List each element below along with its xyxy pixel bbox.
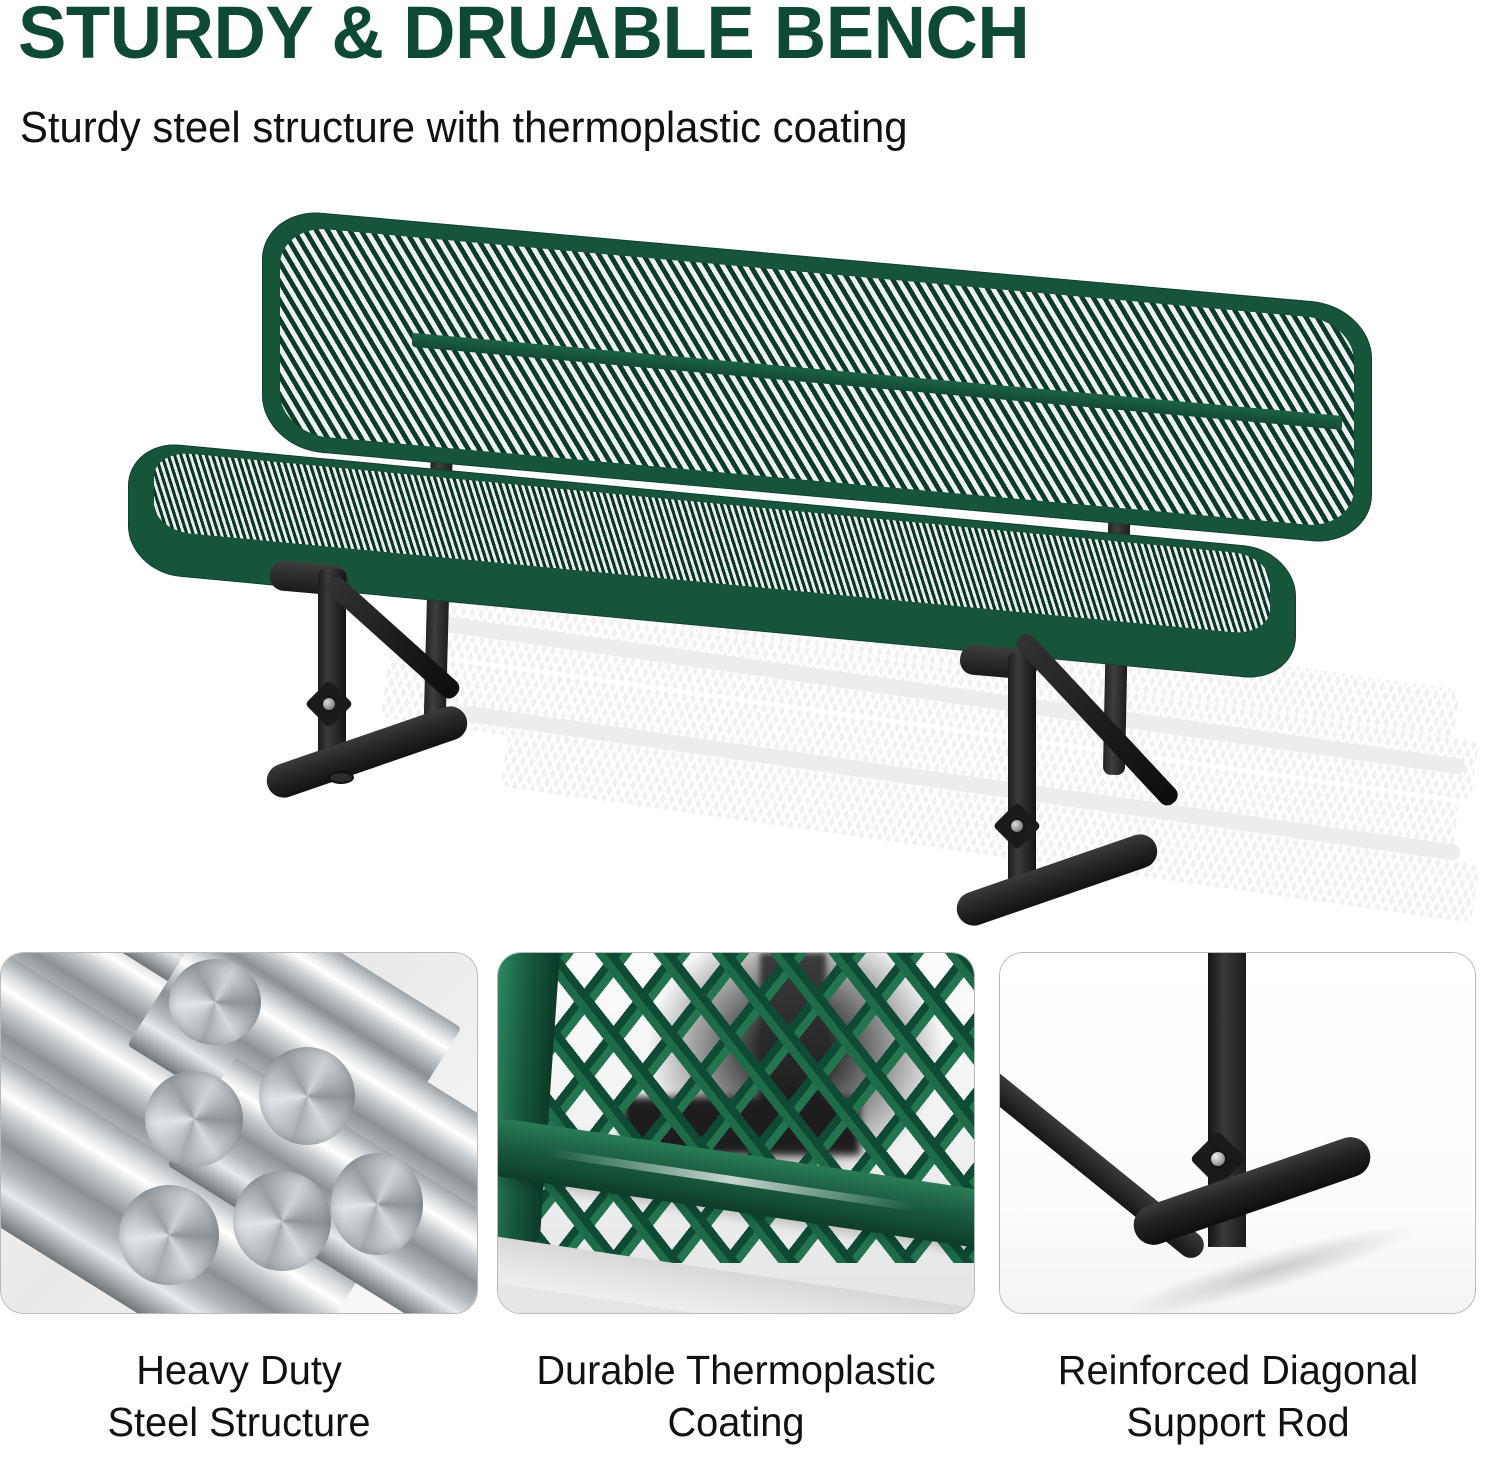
feature-caption-line1: Reinforced Diagonal <box>1006 1344 1470 1396</box>
feature-caption: Durable Thermoplastic Coating <box>504 1344 968 1449</box>
feature-item: Reinforced Diagonal Support Rod <box>999 952 1477 1449</box>
foot-bar-left <box>262 702 472 803</box>
feature-caption-line1: Durable Thermoplastic <box>504 1344 968 1396</box>
leg-post-right <box>1008 653 1036 905</box>
feature-caption-line2: Coating <box>504 1396 968 1448</box>
support-rod-bolt-right <box>1009 818 1025 834</box>
page-title: STURDY & DRUABLE BENCH <box>18 0 1029 70</box>
foot-bar-right <box>952 830 1162 931</box>
feature-caption-line2: Steel Structure <box>7 1396 471 1448</box>
feature-caption: Reinforced Diagonal Support Rod <box>1006 1344 1470 1449</box>
feature-caption-line2: Support Rod <box>1006 1396 1470 1448</box>
feature-thumbnail-steel-rods <box>0 952 478 1314</box>
page-subtitle: Sturdy steel structure with thermoplasti… <box>20 104 907 152</box>
bench-illustration <box>0 175 1500 935</box>
feature-item: Durable Thermoplastic Coating <box>497 952 975 1449</box>
feature-item: Heavy Duty Steel Structure <box>0 952 478 1449</box>
feature-thumbnail-support-rod <box>999 952 1476 1314</box>
thermoplastic-mesh-icon <box>498 953 974 1313</box>
feature-panels: Heavy Duty Steel Structure Durable Therm… <box>0 952 1500 1457</box>
feature-thumbnail-thermoplastic <box>497 952 975 1314</box>
support-rod-icon <box>1000 953 1475 1313</box>
steel-rods-icon <box>1 953 477 1313</box>
feature-caption-line1: Heavy Duty <box>7 1344 471 1396</box>
support-rod-bolt-left <box>321 696 337 712</box>
anchor-tab-left <box>328 771 354 784</box>
hero-product-image <box>0 175 1500 935</box>
feature-caption: Heavy Duty Steel Structure <box>7 1344 471 1449</box>
